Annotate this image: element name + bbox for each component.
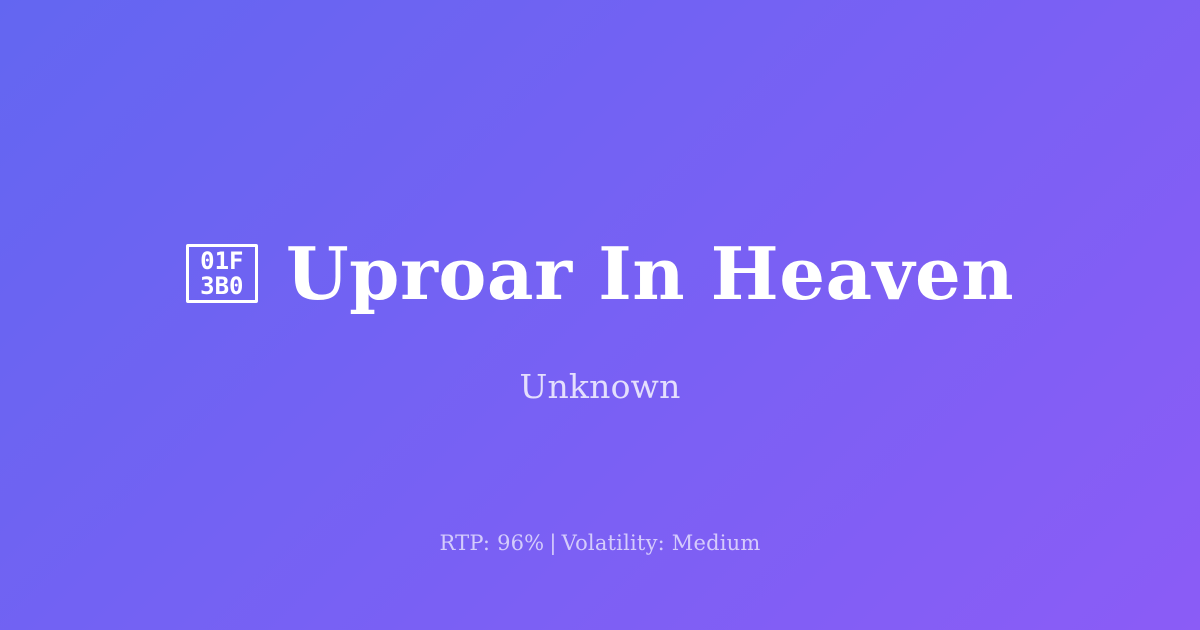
game-preview-card: 01F 3B0 Uproar In Heaven Unknown RTP: 96… xyxy=(0,0,1200,630)
volatility-stat: Volatility: Medium xyxy=(562,531,761,555)
game-title: Uproar In Heaven xyxy=(286,236,1014,312)
stats-separator: | xyxy=(544,531,561,555)
provider-name: Unknown xyxy=(0,366,1200,408)
rtp-stat: RTP: 96% xyxy=(439,531,544,555)
game-stats: RTP: 96%|Volatility: Medium xyxy=(0,528,1200,558)
hero-row: 01F 3B0 Uproar In Heaven xyxy=(0,236,1200,312)
tofu-codepoint-top: 01F xyxy=(200,249,243,274)
tofu-codepoint-bottom: 3B0 xyxy=(200,274,243,299)
slot-machine-icon: 01F 3B0 xyxy=(186,244,258,303)
